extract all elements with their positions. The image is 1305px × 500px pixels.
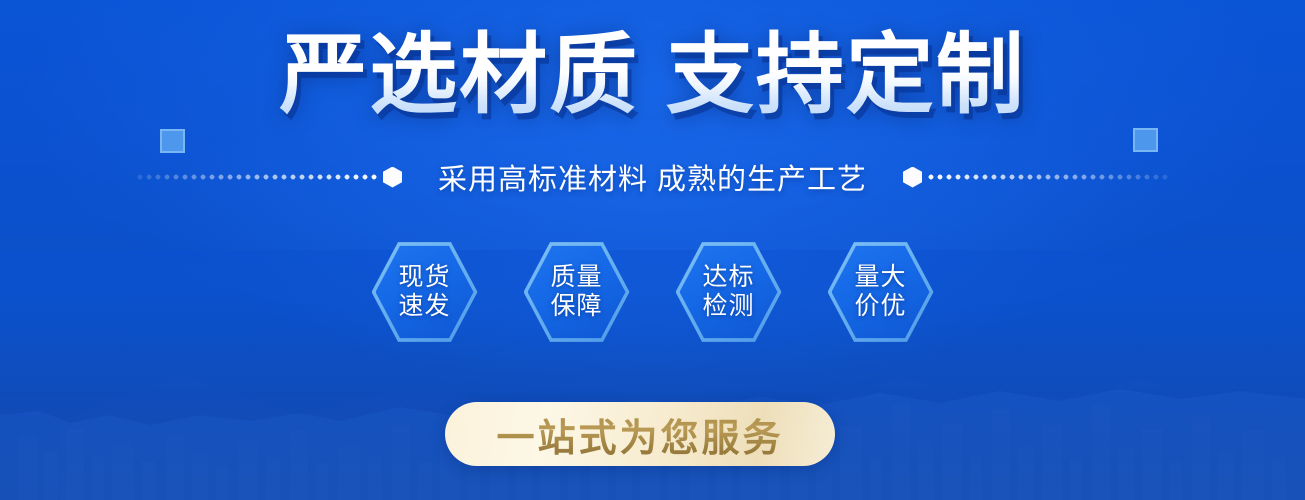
feature-badge-group: 现货 速发 质量 保障 达标 检测 量大 价优 [0,240,1305,344]
feature-badge-line1: 现货 [398,263,450,293]
feature-badge-stock-fast-shipping[interactable]: 现货 速发 [372,240,478,344]
cta-button[interactable]: 一站式为您服务 [445,402,835,466]
feature-badge-bulk-discount[interactable]: 量大 价优 [828,240,934,344]
decorative-square-right [1133,128,1158,152]
feature-badge-line1: 量大 [854,263,906,293]
banner-title: 严选材质 支持定制 [0,26,1305,125]
subtitle-row: 采用高标准材料 成熟的生产工艺 [0,155,1305,199]
feature-badge-label: 量大 价优 [854,263,906,322]
feature-badge-label: 质量 保障 [550,263,602,322]
feature-badge-line2: 价优 [854,292,906,322]
hexagon-bullet-left-icon [383,167,402,188]
feature-badge-line2: 保障 [550,292,602,322]
promo-banner: 严选材质 支持定制 采用高标准材料 成熟的生产工艺 现货 速发 质量 保障 [0,0,1305,500]
decorative-square-left [160,129,185,153]
feature-badge-line1: 达标 [702,263,754,293]
feature-badge-quality-guarantee[interactable]: 质量 保障 [524,240,630,344]
feature-badge-label: 达标 检测 [702,263,754,322]
feature-badge-line1: 质量 [550,263,602,293]
dotted-rule-right [928,174,1168,180]
feature-badge-line2: 速发 [398,292,450,322]
banner-subtitle: 采用高标准材料 成熟的生产工艺 [408,156,897,198]
cta-button-label: 一站式为您服务 [496,407,783,462]
feature-badge-label: 现货 速发 [398,263,450,322]
dotted-rule-left [137,174,377,180]
feature-badge-standard-testing[interactable]: 达标 检测 [676,240,782,344]
feature-badge-line2: 检测 [702,292,754,322]
hexagon-bullet-right-icon [903,167,922,188]
